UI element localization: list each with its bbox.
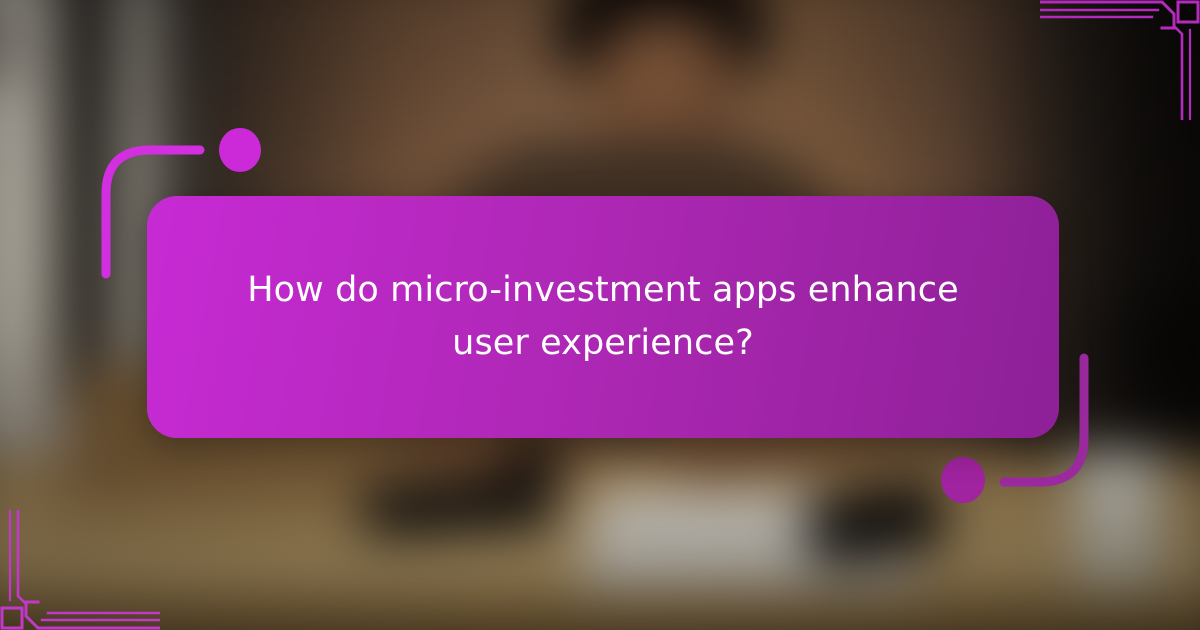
page-title: How do micro-investment apps enhance use… — [209, 264, 997, 370]
social-card-canvas: How do micro-investment apps enhance use… — [0, 0, 1200, 630]
dot-top-left-icon — [219, 128, 261, 172]
circuit-lines-top-right-icon — [1040, 0, 1200, 120]
circuit-lines-bottom-left-icon — [0, 510, 160, 630]
headline-card: How do micro-investment apps enhance use… — [147, 196, 1059, 438]
dot-bottom-right-icon — [941, 457, 985, 503]
